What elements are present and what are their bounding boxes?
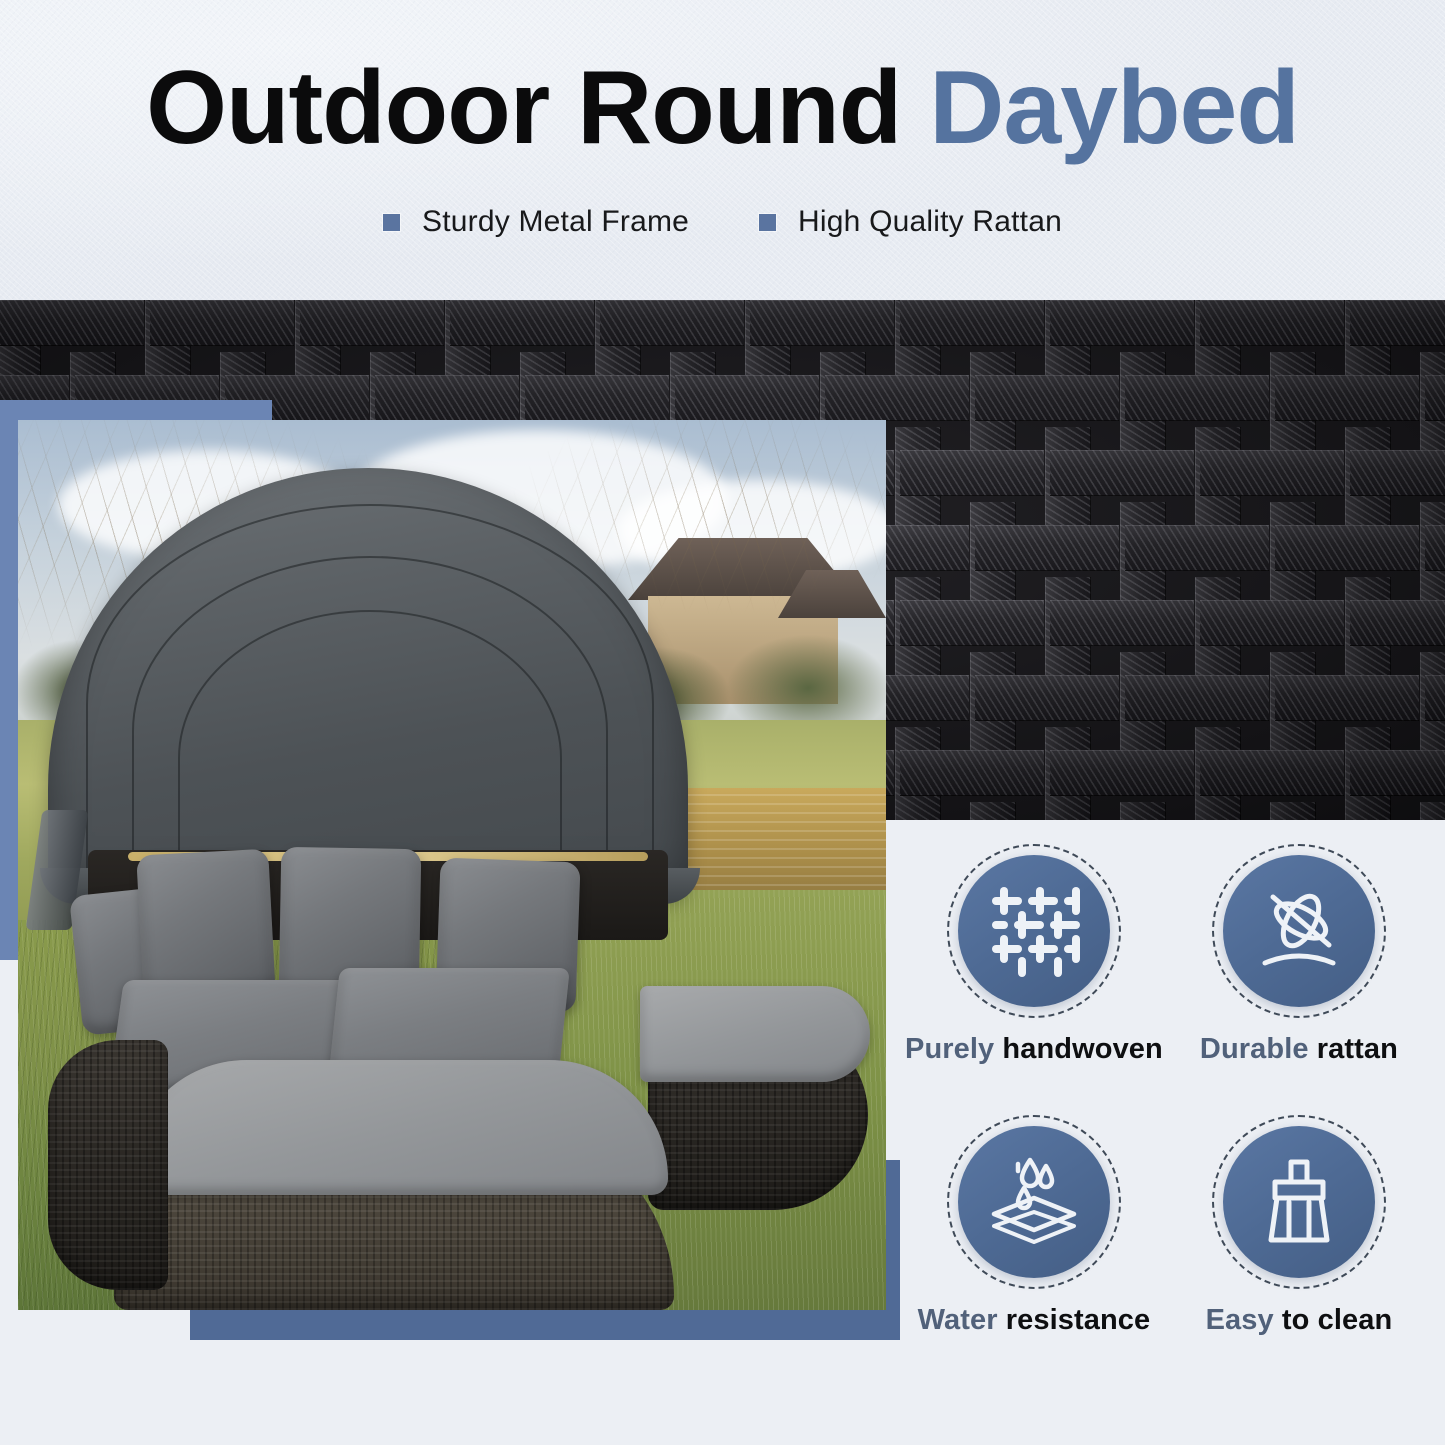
feature-durable-rattan: Durable rattan xyxy=(1173,855,1425,1104)
feature-label-word1: Durable xyxy=(1200,1033,1309,1065)
feature-label: Purely handwoven xyxy=(905,1033,1163,1066)
feature-water-resistance: Water resistance xyxy=(905,1126,1163,1375)
badge-circle xyxy=(1223,855,1375,1007)
feature-bullet-list: Sturdy Metal Frame High Quality Rattan xyxy=(0,205,1445,239)
feature-label: Easy to clean xyxy=(1206,1304,1393,1337)
page-title: Outdoor Round Daybed xyxy=(0,56,1445,160)
product-infographic-page: Outdoor Round Daybed Sturdy Metal Frame … xyxy=(0,0,1445,1445)
badge-circle xyxy=(1223,1126,1375,1278)
feature-badge-grid: Purely handwoven Durable rattan xyxy=(905,855,1425,1375)
weave-pattern-icon xyxy=(986,883,1082,979)
page-title-accent: Daybed xyxy=(929,50,1299,166)
feature-purely-handwoven: Purely handwoven xyxy=(905,855,1163,1104)
feature-easy-to-clean: Easy to clean xyxy=(1173,1126,1425,1375)
daybed-round-base xyxy=(48,1040,168,1290)
water-drop-layers-icon xyxy=(986,1154,1082,1250)
feature-label-word1: Easy xyxy=(1206,1304,1274,1336)
square-bullet-icon xyxy=(383,214,400,231)
badge-circle xyxy=(958,1126,1110,1278)
feature-label-word1: Water xyxy=(918,1304,998,1336)
feature-label-word1: Purely xyxy=(905,1033,994,1065)
feature-label: Durable rattan xyxy=(1200,1033,1398,1066)
bullet-label: High Quality Rattan xyxy=(798,205,1062,239)
badge-circle xyxy=(958,855,1110,1007)
side-ottoman-cushion xyxy=(640,986,870,1082)
square-bullet-icon xyxy=(759,214,776,231)
wedge-ottoman-cushion xyxy=(128,1060,668,1195)
feature-label-word2: handwoven xyxy=(994,1033,1163,1065)
page-title-primary: Outdoor Round xyxy=(146,50,929,166)
header-banner: Outdoor Round Daybed Sturdy Metal Frame … xyxy=(0,0,1445,300)
feature-label-word2: rattan xyxy=(1309,1033,1398,1065)
feature-label-word2: resistance xyxy=(998,1304,1151,1336)
feature-label-word2: to clean xyxy=(1274,1304,1393,1336)
no-deform-icon xyxy=(1251,883,1347,979)
brush-icon xyxy=(1251,1154,1347,1250)
outdoor-round-daybed-photo xyxy=(18,420,886,1310)
bullet-label: Sturdy Metal Frame xyxy=(422,205,689,239)
bullet-item-metal-frame: Sturdy Metal Frame xyxy=(383,205,689,239)
bullet-item-rattan: High Quality Rattan xyxy=(759,205,1062,239)
feature-label: Water resistance xyxy=(918,1304,1151,1337)
